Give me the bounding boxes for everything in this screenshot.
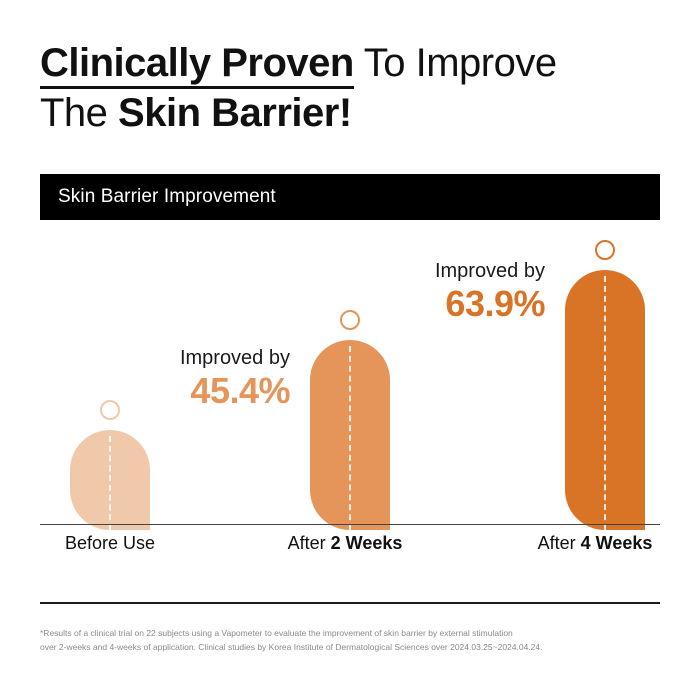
page-headline: Clinically Proven To Improve The Skin Ba… xyxy=(40,38,660,138)
headline-line1-rest: To Improve xyxy=(354,41,557,85)
axis-label-week-2-bold: 2 Weeks xyxy=(331,533,403,553)
footnote: *Results of a clinical trial on 22 subje… xyxy=(40,626,640,654)
bar-center-dash-week-2 xyxy=(349,346,351,530)
bar-center-dash-before-use xyxy=(109,436,111,530)
axis-label-week-4: After 4 Weeks xyxy=(505,533,685,554)
axis-label-before-use-text: Before Use xyxy=(65,533,155,553)
callout-week-4-value: 63.9% xyxy=(375,284,545,324)
axis-label-week-2-text: After xyxy=(288,533,331,553)
headline-line-1: Clinically Proven To Improve xyxy=(40,38,660,88)
headline-line2-bold: Skin Barrier! xyxy=(118,91,352,135)
bar-before-use xyxy=(70,430,150,530)
bar-marker-week-4 xyxy=(595,240,615,260)
axis-label-week-2: After 2 Weeks xyxy=(255,533,435,554)
bar-week-4 xyxy=(565,270,645,530)
headline-line2-light: The xyxy=(40,91,118,135)
axis-label-week-4-bold: 4 Weeks xyxy=(581,533,653,553)
bar-week-2 xyxy=(310,340,390,530)
bar-marker-week-2 xyxy=(340,310,360,330)
bar-group-week-4 xyxy=(565,230,645,530)
banner-title: Skin Barrier Improvement xyxy=(40,186,276,208)
footer-divider xyxy=(40,602,660,604)
footnote-line-1: *Results of a clinical trial on 22 subje… xyxy=(40,626,640,640)
headline-emphasis: Clinically Proven xyxy=(40,41,354,89)
axis-label-before-use: Before Use xyxy=(30,533,190,554)
callout-week-2: Improved by 45.4% xyxy=(120,345,290,411)
callout-week-4: Improved by 63.9% xyxy=(375,258,545,324)
axis-label-week-4-text: After xyxy=(538,533,581,553)
callout-week-2-value: 45.4% xyxy=(120,371,290,411)
footnote-line-2: over 2-weeks and 4-weeks of application.… xyxy=(40,640,640,654)
callout-week-4-label: Improved by xyxy=(375,258,545,284)
headline-line-2: The Skin Barrier! xyxy=(40,88,660,138)
section-banner: Skin Barrier Improvement xyxy=(40,174,660,220)
bar-marker-before-use xyxy=(100,400,120,420)
bar-center-dash-week-4 xyxy=(604,276,606,530)
callout-week-2-label: Improved by xyxy=(120,345,290,371)
chart-axis-line xyxy=(40,524,660,525)
